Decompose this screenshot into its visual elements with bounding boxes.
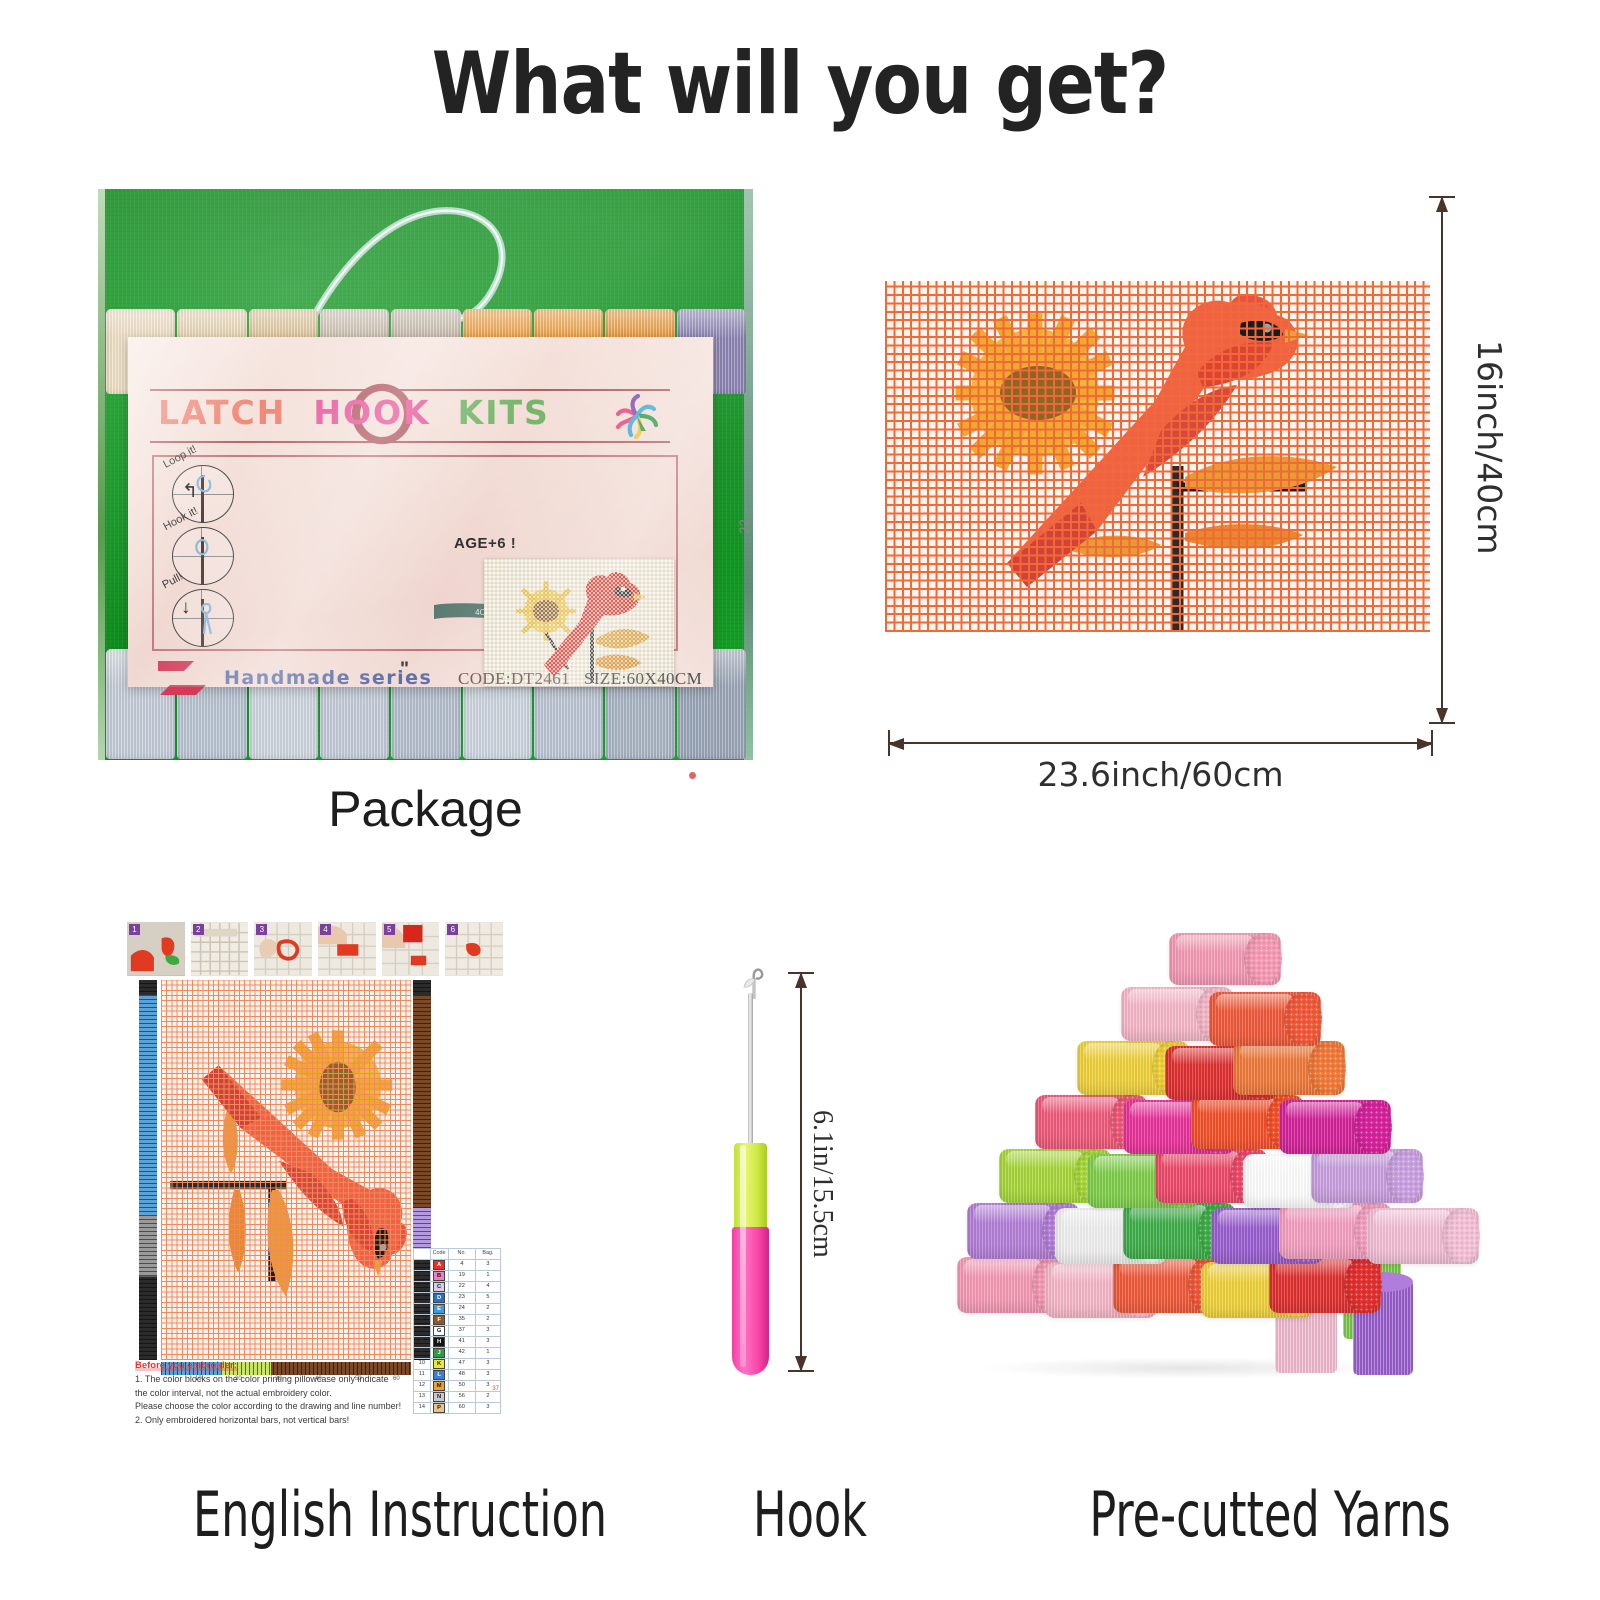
hook-collar [734,1143,767,1229]
legend-row-bag: 1 [475,1347,500,1358]
legend-row: 1A43 [414,1259,501,1270]
legend-row-bag: 5 [475,1292,500,1303]
legend-row-index: 8 [414,1336,431,1347]
arrowhead-left-icon [888,736,908,752]
before-line: the color interval, not the actual embro… [135,1387,435,1401]
legend-row-no: 23 [448,1292,475,1303]
before-line: 2. Only embroidered horizontal bars, not… [135,1414,435,1428]
yarn-piece [1169,933,1281,985]
legend-row: 8H413 [414,1336,501,1347]
legend-row-bag: 2 [475,1391,500,1402]
caption-yarns: Pre-cutted Yarns [1022,1478,1518,1551]
legend-row: 3C224 [414,1281,501,1292]
label-plastic-gloss [128,337,713,687]
legend-row: 2B191 [414,1270,501,1281]
legend-row-no: 41 [448,1336,475,1347]
stray-red-speck [689,772,696,779]
before-line: Please choose the color according to the… [135,1400,435,1414]
yarn-piece [1233,1041,1345,1095]
arrowhead-right-icon [1413,736,1433,752]
legend-header-bag: Bag. [475,1249,500,1260]
legend-row-no: 35 [448,1314,475,1325]
legend-row-code: D [430,1292,448,1303]
thumbnail-badge: 3 [256,924,267,935]
legend-row-bag: 3 [475,1325,500,1336]
latch-hook-tool [700,955,820,1375]
legend-row-index: 4 [414,1292,431,1303]
hook-dimension-line [800,972,802,1372]
legend-row-no: 37 [448,1325,475,1336]
hook-handle-highlight [740,1145,746,1367]
legend-row-index: 3 [414,1281,431,1292]
legend-row-no: 4 [448,1259,475,1270]
thumbnail-badge: 4 [320,924,331,935]
legend-row-code: E [430,1303,448,1314]
legend-row-bag: 3 [475,1369,500,1380]
legend-total: 37 [492,1386,499,1392]
printed-mesh-canvas [885,281,1430,632]
hook-handle [732,1227,769,1375]
hook-length-label: 6.1in/15.5cm [806,1110,838,1258]
caption-package: Package [98,780,753,838]
legend-row-no: 50 [448,1380,475,1391]
step-thumbnail-strip: 1 2 3 [127,922,503,976]
arrowhead-down-icon [1434,704,1450,724]
photo-left-edge [98,189,105,760]
legend-row: 5E242 [414,1303,501,1314]
page-title: What will you get? [56,34,1544,134]
before-heading: Before you embroider: [135,1360,237,1371]
thumbnail-badge: 5 [384,924,395,935]
legend-row-no: 60 [448,1402,475,1413]
legend-row-code: G [430,1325,448,1336]
legend-row-bag: 2 [475,1314,500,1325]
chart-ruler-left [139,980,157,1360]
arrowhead-up-icon [1434,196,1450,216]
chart-mesh-grid [161,980,411,1360]
legend-row-index: 2 [414,1270,431,1281]
step-thumbnail: 2 [191,922,249,976]
package-label: LATCH HOOK KITS Loop it! [128,337,713,687]
legend-row-bag: 3 [475,1336,500,1347]
chart-design-grid [161,980,411,1360]
step-thumbnail: 3 [254,922,312,976]
yarn-piece [1209,992,1321,1046]
hook-arrowhead-up-icon [793,972,809,992]
caption-hook: Hook [690,1478,930,1551]
legend-header-code: Code [430,1249,448,1260]
thumbnail-badge: 1 [129,924,140,935]
legend-row: 7G373 [414,1325,501,1336]
yarn-piece [1269,1257,1381,1313]
package-side-number: 22 [736,519,751,533]
caption-english-instruction: English Instruction [128,1478,672,1551]
legend-row-no: 48 [448,1369,475,1380]
legend-header-no: No. [448,1249,475,1260]
legend-row-no: 24 [448,1303,475,1314]
legend-row-code: H [430,1336,448,1347]
legend-row-bag: 3 [475,1402,500,1413]
legend-row-code: F [430,1314,448,1325]
yarn-piece [1279,1100,1391,1154]
legend-row-bag: 3 [475,1259,500,1270]
legend-row-bag: 2 [475,1303,500,1314]
pre-cutted-yarns-photo [955,925,1445,1375]
package-photo: LATCH HOOK KITS Loop it! [98,189,753,760]
legend-row: 4D235 [414,1292,501,1303]
thumbnail-badge: 6 [447,924,458,935]
legend-row-no: 56 [448,1391,475,1402]
legend-header-index [414,1249,431,1260]
dimension-line-vertical [1441,196,1443,724]
legend-row-no: 42 [448,1347,475,1358]
legend-header-row: Code No. Bag. [414,1249,501,1260]
legend-row-code: B [430,1270,448,1281]
english-instruction-sheet: 1 2 3 [125,900,505,1460]
legend-row-index: 7 [414,1325,431,1336]
step-thumbnail: 5 [382,922,440,976]
yarn-piece [1311,1149,1423,1203]
dimension-line-horizontal [888,742,1433,744]
canvas-height-label: 16inch/40cm [1470,340,1509,555]
hook-tip-icon [738,965,768,1001]
step-thumbnail: 6 [445,922,503,976]
canvas-mesh-grid [885,281,1430,632]
hook-needle-shaft [748,993,753,1148]
legend-row-index: 6 [414,1314,431,1325]
legend-row-bag: 3 [475,1358,500,1369]
legend-row-no: 47 [448,1358,475,1369]
hook-arrowhead-down-icon [793,1352,809,1372]
legend-row-index: 1 [414,1259,431,1270]
legend-row-no: 19 [448,1270,475,1281]
canvas-width-label: 23.6inch/60cm [888,755,1433,794]
instruction-chart: 10 20 30 40 50 60 [133,980,423,1360]
legend-row-code: A [430,1259,448,1270]
thumbnail-badge: 2 [193,924,204,935]
before-line: 1. The color blocks on the color printin… [135,1373,435,1387]
before-you-embroider-note: Before you embroider: 1. The color block… [135,1355,435,1428]
legend-row-code: C [430,1281,448,1292]
step-thumbnail: 4 [318,922,376,976]
step-thumbnail: 1 [127,922,185,976]
legend-row-no: 22 [448,1281,475,1292]
yarn-piece [1367,1208,1479,1264]
legend-row-bag: 4 [475,1281,500,1292]
legend-row-bag: 1 [475,1270,500,1281]
legend-row: 6F352 [414,1314,501,1325]
legend-row-index: 5 [414,1303,431,1314]
